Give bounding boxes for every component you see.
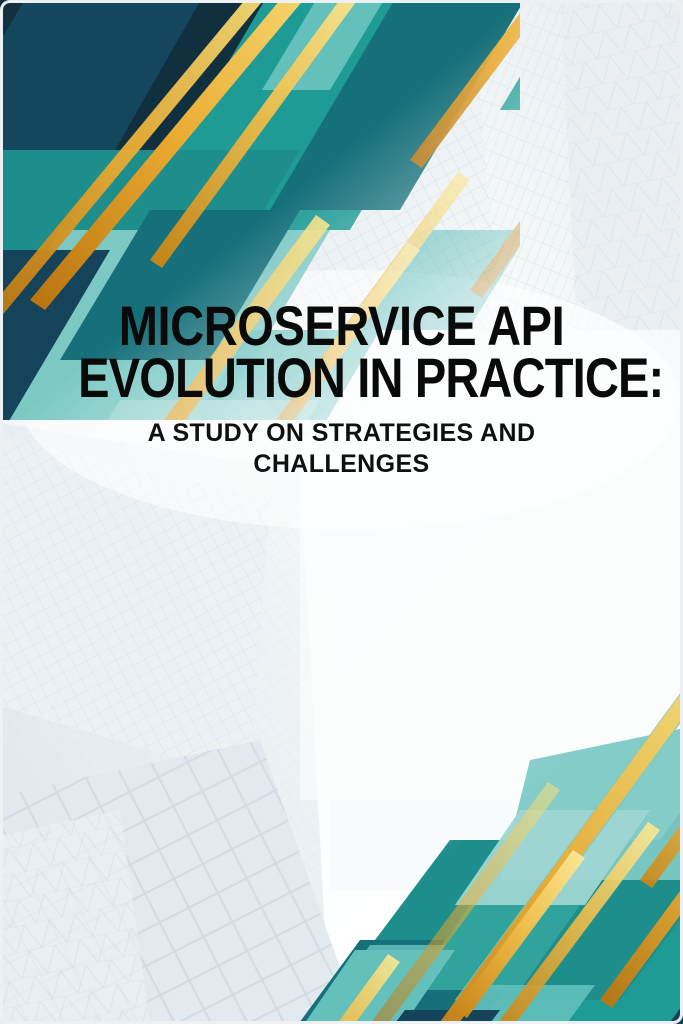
page-title: MICROSERVICE API EVOLUTION IN PRACTICE:	[78, 300, 605, 404]
decorative-geometry	[0, 0, 683, 1024]
poster-text-block: MICROSERVICE API EVOLUTION IN PRACTICE: …	[0, 300, 683, 480]
title-line-1: MICROSERVICE API	[78, 300, 605, 352]
poster-canvas: MICROSERVICE API EVOLUTION IN PRACTICE: …	[0, 0, 683, 1024]
title-line-2: EVOLUTION IN PRACTICE:	[78, 352, 605, 404]
page-subtitle: A STUDY ON STRATEGIES AND CHALLENGES	[107, 418, 577, 480]
